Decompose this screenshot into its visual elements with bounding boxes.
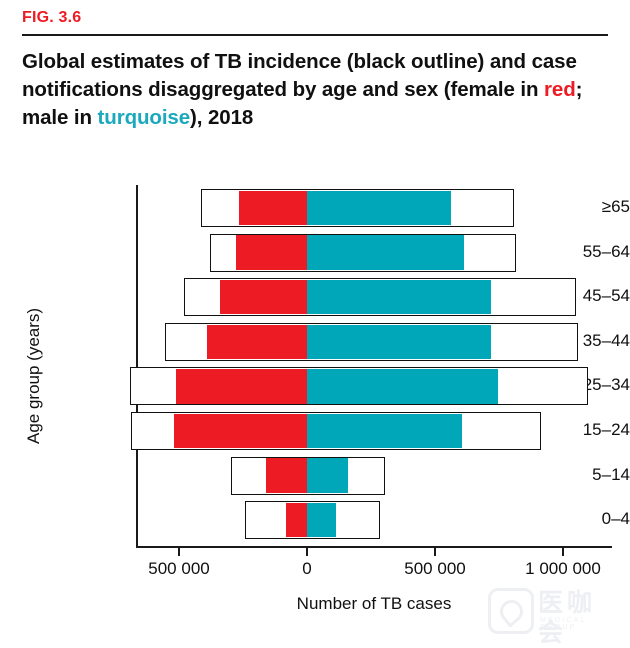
female-notification-bar [286, 503, 307, 537]
female-notification-bar [236, 235, 307, 269]
y-tick-label: 5–14 [508, 465, 630, 485]
female-notification-bar [266, 458, 307, 492]
y-axis-line [136, 185, 138, 546]
x-tick-label: 1 000 000 [525, 559, 601, 579]
x-tick-mark [562, 548, 564, 556]
x-tick-mark [434, 548, 436, 556]
y-axis-title: Age group (years) [24, 307, 44, 443]
y-tick-label: 0–4 [508, 509, 630, 529]
x-axis-line [136, 546, 612, 548]
x-tick-mark [306, 548, 308, 556]
male-notification-bar [307, 458, 348, 492]
x-tick-mark [178, 548, 180, 556]
y-tick-label: 55–64 [508, 242, 630, 262]
female-notification-bar [176, 369, 307, 403]
x-axis-title: Number of TB cases [297, 594, 452, 614]
male-notification-bar [307, 414, 462, 448]
female-notification-bar [239, 191, 307, 225]
chart-plot-area: ≥6555–6445–5435–4425–3415–245–140–4500 0… [0, 0, 630, 644]
male-notification-bar [307, 280, 491, 314]
x-tick-label: 500 000 [148, 559, 209, 579]
x-tick-label: 500 000 [404, 559, 465, 579]
male-notification-bar [307, 369, 498, 403]
male-notification-bar [307, 191, 451, 225]
male-notification-bar [307, 325, 491, 359]
female-notification-bar [207, 325, 307, 359]
y-tick-label: ≥65 [508, 197, 630, 217]
female-notification-bar [174, 414, 307, 448]
male-notification-bar [307, 235, 464, 269]
x-tick-label: 0 [302, 559, 311, 579]
female-notification-bar [220, 280, 307, 314]
male-notification-bar [307, 503, 336, 537]
